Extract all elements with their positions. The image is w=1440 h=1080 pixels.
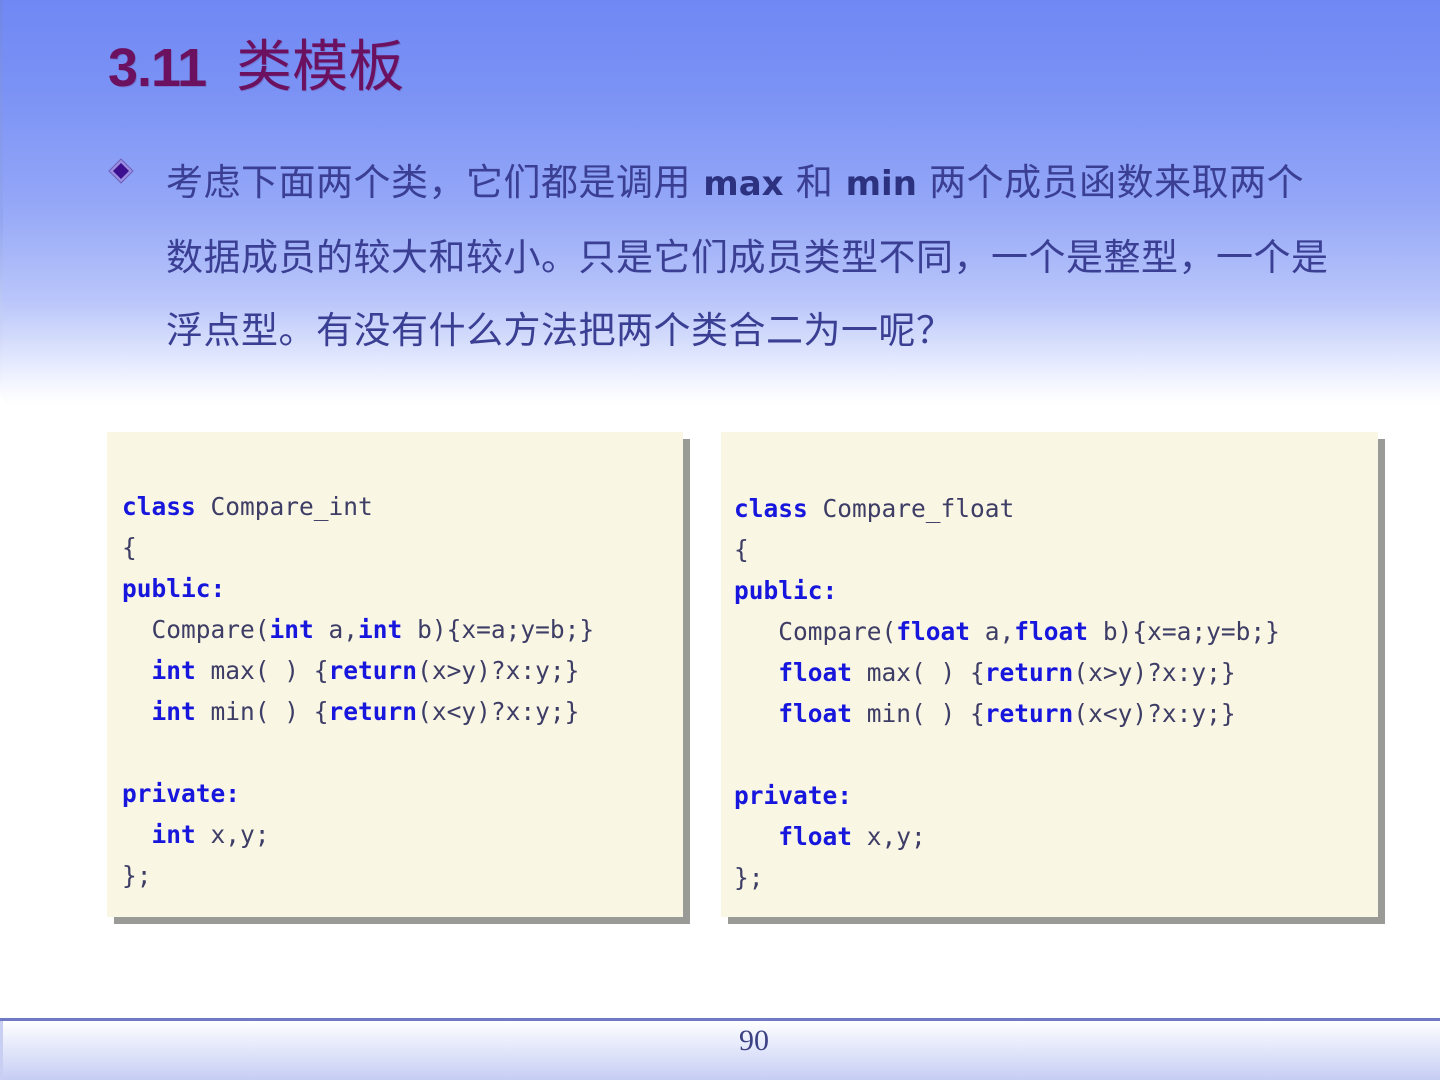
- code-token: min( ) {: [852, 699, 985, 728]
- code-keyword: return: [985, 658, 1074, 687]
- code-line: {: [122, 527, 683, 568]
- code-keyword: return: [329, 697, 418, 726]
- code-line: int max( ) {return(x>y)?x:y;}: [122, 650, 683, 691]
- diamond-bullet-icon: [108, 158, 134, 184]
- page-number: 90: [0, 1021, 1440, 1061]
- code-keyword: int: [152, 656, 196, 685]
- code-line: Compare(float a,float b){x=a;y=b;}: [734, 611, 1378, 652]
- code-keyword: float: [778, 658, 852, 687]
- code-token: };: [122, 861, 152, 890]
- code-token: min( ) {: [196, 697, 329, 726]
- code-line: public:: [734, 570, 1378, 611]
- bullet-inline-code-1: max: [703, 164, 783, 204]
- code-line: float min( ) {return(x<y)?x:y;}: [734, 693, 1378, 734]
- code-line: {: [734, 529, 1378, 570]
- code-token: a,: [314, 615, 358, 644]
- page-title-number: 3.11: [108, 38, 206, 98]
- bullet-text-run-0: 考虑下面两个类，它们都是调用: [166, 161, 703, 204]
- code-token: max( ) {: [196, 656, 329, 685]
- code-line: public:: [122, 568, 683, 609]
- code-keyword: private:: [734, 781, 852, 810]
- code-token: x,y;: [196, 820, 270, 849]
- code-keyword: class: [734, 494, 823, 523]
- code-token: {: [734, 535, 749, 564]
- code-token: [122, 820, 152, 849]
- code-keyword: float: [1014, 617, 1088, 646]
- code-line: int x,y;: [122, 814, 683, 855]
- code-keyword: public:: [122, 574, 225, 603]
- code-keyword: return: [985, 699, 1074, 728]
- bullet-block: 考虑下面两个类，它们都是调用 max 和 min 两个成员函数来取两个数据成员的…: [108, 146, 1338, 367]
- code-line: private:: [122, 773, 683, 814]
- code-block-compare-float: class Compare_float{public: Compare(floa…: [721, 432, 1378, 917]
- page-title-text: 类模板: [236, 35, 404, 100]
- code-line: };: [734, 857, 1378, 898]
- code-line: [122, 732, 683, 773]
- code-line: class Compare_int: [122, 486, 683, 527]
- code-token: max( ) {: [852, 658, 985, 687]
- code-keyword: int: [358, 615, 402, 644]
- code-token: Compare_int: [211, 492, 373, 521]
- code-token: };: [734, 863, 764, 892]
- code-keyword: float: [778, 822, 852, 851]
- code-token: [122, 656, 152, 685]
- code-token: (x<y)?x:y;}: [1073, 699, 1235, 728]
- code-line: private:: [734, 775, 1378, 816]
- code-line: float x,y;: [734, 816, 1378, 857]
- code-line: };: [122, 855, 683, 896]
- code-token: (x>y)?x:y;}: [417, 656, 579, 685]
- bullet-text-run-2: 和: [784, 161, 846, 204]
- code-token: a,: [970, 617, 1014, 646]
- code-token: [734, 658, 778, 687]
- code-keyword: int: [270, 615, 314, 644]
- code-line: float max( ) {return(x>y)?x:y;}: [734, 652, 1378, 693]
- code-token: b){x=a;y=b;}: [1088, 617, 1280, 646]
- code-keyword: float: [778, 699, 852, 728]
- code-token: [734, 699, 778, 728]
- bullet-paragraph: 考虑下面两个类，它们都是调用 max 和 min 两个成员函数来取两个数据成员的…: [166, 146, 1338, 367]
- code-keyword: public:: [734, 576, 837, 605]
- code-token: Compare_float: [823, 494, 1015, 523]
- code-keyword: int: [152, 820, 196, 849]
- code-token: (x<y)?x:y;}: [417, 697, 579, 726]
- slide-left-edge-accent: [0, 0, 3, 1022]
- code-token: [122, 697, 152, 726]
- code-token: Compare(: [122, 615, 270, 644]
- code-keyword: return: [329, 656, 418, 685]
- code-block-compare-int: class Compare_int{public: Compare(int a,…: [107, 432, 683, 917]
- code-keyword: float: [896, 617, 970, 646]
- code-token: [734, 822, 778, 851]
- code-keyword: int: [152, 697, 196, 726]
- code-token: {: [122, 533, 137, 562]
- code-line: [734, 734, 1378, 775]
- code-token: x,y;: [852, 822, 926, 851]
- code-token: (x>y)?x:y;}: [1073, 658, 1235, 687]
- code-keyword: class: [122, 492, 211, 521]
- code-keyword: private:: [122, 779, 240, 808]
- code-line: Compare(int a,int b){x=a;y=b;}: [122, 609, 683, 650]
- code-token: b){x=a;y=b;}: [402, 615, 594, 644]
- code-token: Compare(: [734, 617, 896, 646]
- bullet-inline-code-3: min: [846, 164, 917, 204]
- code-line: class Compare_float: [734, 488, 1378, 529]
- code-line: int min( ) {return(x<y)?x:y;}: [122, 691, 683, 732]
- page-title: 3.11 类模板: [108, 22, 404, 103]
